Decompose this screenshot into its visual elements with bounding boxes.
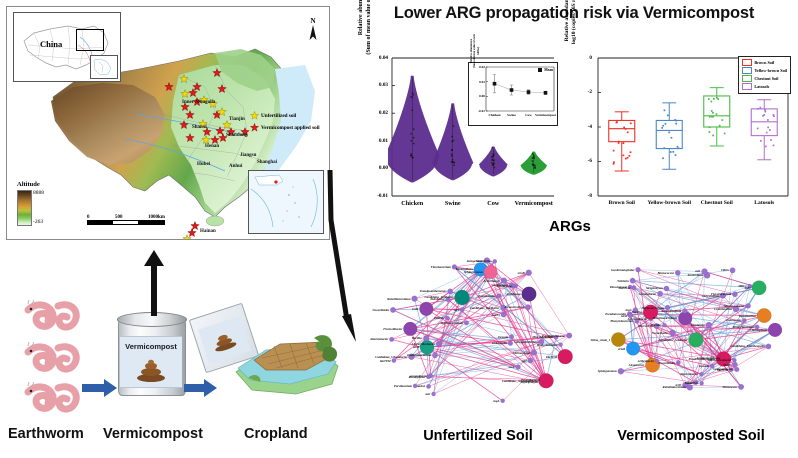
network-node-label: Flavisolibacter <box>383 327 402 331</box>
network-node-label: Candidatus_Solibacter <box>659 338 688 342</box>
boxplot-legend: Brown SoilYellow-brown SoilChestnut Soil… <box>738 56 791 94</box>
network-node-label: Paracoccus <box>723 385 738 389</box>
inset-xtick-vermicompost: Vermicompost <box>534 113 558 117</box>
network-node-label: Chitinophaga <box>750 328 768 332</box>
map-place-shandong: Shandong <box>226 133 247 138</box>
flow-arrow-vermicompost-to-cropland <box>184 378 218 398</box>
flow-label-cropland: Cropland <box>244 426 308 442</box>
network-node-label: Candidatus_Entotheonella <box>731 344 765 348</box>
network-node-label: blaPC <box>724 363 732 367</box>
network-node-label: Streptomyces <box>491 283 508 287</box>
network-node-label: Arthrobacter <box>483 279 500 283</box>
map-place-shanxi: Shanxi <box>192 125 207 130</box>
network-node-label: Janthinobacterium <box>407 353 431 357</box>
network-node-label: Candidatus_Koribacter <box>470 306 500 310</box>
network-node-label: Devosia <box>498 335 508 339</box>
boxplot-ytick-3: -6 <box>566 158 592 164</box>
network-node-label: Rubellimicrobium <box>387 297 410 301</box>
network-node-label: ermB <box>618 347 625 351</box>
network-node-label: Micavibrio <box>685 381 699 385</box>
network-node-label: Aeromicrobium <box>661 309 681 313</box>
boxplot-legend-swatch-3 <box>742 83 752 90</box>
network-unfertilized-soil: metagenomeblaTEMPedobacterChitinophagaaa… <box>368 238 588 428</box>
network-node-label: Acidibacter <box>506 292 521 296</box>
args-section-label: ARGs <box>500 218 640 235</box>
network-node-label: Nocardioides <box>652 331 669 335</box>
network-node-label: tetM <box>413 345 419 349</box>
network-node-label: Planctomycet <box>610 285 627 289</box>
violin-ytick-2: 0.02 <box>362 110 388 116</box>
boxplot-xtick-latosols: Latosols <box>734 200 794 206</box>
network-node-label: Sphingomonas <box>598 369 617 373</box>
inset-ytick-2: 0.00 <box>471 94 485 98</box>
network-node-label: Pseudoxanthomonas <box>420 289 447 293</box>
network-node-label: Tumebacillus <box>739 314 756 318</box>
network-node-label: Sphingomonas <box>464 270 483 274</box>
violin-ylab-line2: (Sum of mean value of each ARGs) <box>366 0 372 55</box>
network-node-label: Streptomyces <box>646 286 663 290</box>
boxplot-legend-label-0: Brown Soil <box>754 60 774 65</box>
network-node-label: tetM <box>621 314 627 318</box>
network-node-label: blaTEM <box>717 368 728 372</box>
network-node-label: Parvibaculum <box>394 384 412 388</box>
network-node-label: Arthrobacter <box>638 359 655 363</box>
network-node-label: Dokdonella <box>492 341 507 345</box>
soil-boxplot: Relative abundance of ARGs log10 (copies… <box>566 52 794 224</box>
network-node-label: Paenibacillus <box>478 294 495 298</box>
inset-ytick-1: 0.01 <box>471 80 485 84</box>
violin-ytick-1: 0.03 <box>362 82 388 88</box>
inset-ytick-0: 0.02 <box>471 65 485 69</box>
map-place-anhui: Anhui <box>229 164 242 169</box>
network-vermicomposted-title: Vermicomposted Soil <box>588 428 794 444</box>
network-node-label: aadA1 <box>417 384 425 388</box>
network-node-label: Nocardioides <box>372 308 389 312</box>
violin-inset-mean-plot: Relative abundance (Sum of mean value of… <box>468 62 558 126</box>
network-node-label: Acinetobacter <box>639 292 657 296</box>
network-node-label: Alcanivorax <box>629 363 645 367</box>
network-node-label: Alterniobacter <box>680 372 698 376</box>
boxplot-ytick-1: -2 <box>566 89 592 95</box>
flow-label-vermicompost: Vermicompost <box>103 426 203 442</box>
network-node-label: Candidatus_Solibacter <box>425 295 454 299</box>
map-place-henan: Henan <box>205 144 219 149</box>
boxplot-legend-label-1: Yellow-brown Soil <box>754 68 787 73</box>
network-node-label: Hyphomicrobium <box>441 321 464 325</box>
network-node-label: Candidatus_Udaeobacter <box>375 355 407 359</box>
network-node-label: Chitinophaga <box>513 351 531 355</box>
boxplot-legend-row-3: Latosols <box>742 83 787 90</box>
boxplot-legend-label-2: Chestnut Soil <box>754 76 778 81</box>
network-node-label: Deino_strain_1 <box>591 338 611 342</box>
network-node-label: Devosia <box>699 364 709 368</box>
network-node-label: blaTEM <box>380 359 391 363</box>
boxplot-legend-swatch-1 <box>742 67 752 74</box>
network-node-label: Wohleria <box>617 279 629 283</box>
boxplot-ytick-0: 0 <box>566 55 592 61</box>
vermicompost-can-label: Vermicompost <box>118 342 184 351</box>
inset-legend-marker <box>538 68 542 72</box>
violin-ylab-line1: Relative abundance <box>358 0 364 35</box>
network-node-label: Flavobacterium <box>431 265 451 269</box>
violin-ytick-5: -0.01 <box>362 193 388 199</box>
vermicompost-can: Vermicompost <box>118 310 184 398</box>
network-vermicomposted-canvas <box>588 238 794 428</box>
network-node-label: tnpA <box>493 399 499 403</box>
network-node-label: Aeromicrobium <box>504 305 524 309</box>
network-node-label: ereA <box>509 365 515 369</box>
violin-xtick-vermicompost: Vermicompost <box>506 200 562 207</box>
network-vermicomposted-soil: PseudonocardiaLysobacterStreptomycestetW… <box>588 238 794 428</box>
network-node-label: Achromobacter <box>628 317 648 321</box>
network-node-label: aadE5 <box>492 313 500 317</box>
network-node-label: sul1 <box>425 392 430 396</box>
boxplot-legend-row-1: Yellow-brown Soil <box>742 67 787 74</box>
violin-ytick-0: 0.04 <box>362 55 388 61</box>
map-sampling-markers <box>7 7 329 239</box>
network-node-label: sul2 <box>521 359 526 363</box>
network-node-label: Vermiphilus <box>476 259 491 263</box>
map-place-jiangsu: Jiangsu <box>240 153 256 158</box>
map-place-shanghai: Shanghai <box>257 160 277 165</box>
map-place-inner-mongolia: Inner Mongolia <box>182 100 215 105</box>
network-node-label: Candidatus_Nitrososphaera <box>502 379 538 383</box>
flow-arrow-earthworm-to-vermicompost <box>82 378 118 398</box>
network-node-label: PRRM2 <box>434 316 444 320</box>
inset-legend-label: Mean <box>544 68 553 72</box>
boxplot-legend-row-0: Brown Soil <box>742 59 787 66</box>
network-node-label: Vibrio <box>721 268 729 272</box>
boxplot-legend-row-2: Chestnut Soil <box>742 75 787 82</box>
violin-ytick-3: 0.01 <box>362 138 388 144</box>
compost-icon <box>135 358 167 382</box>
boxplot-ylab-line2: log10 (copies/16S rRNA copies) <box>571 0 577 44</box>
network-node-label: Dinoroseobacter <box>723 304 744 308</box>
network-node-label: Massiliomicrobium <box>653 316 678 320</box>
network-unfertilized-title: Unfertilized Soil <box>368 428 588 444</box>
network-node-label: Sphingobacterium <box>514 340 538 344</box>
network-node-label: Rubellimicrobium <box>663 385 686 389</box>
network-node-label: Bacillus <box>632 310 643 314</box>
earthworm-icon <box>22 294 92 336</box>
network-node-label: Rhodoplanes <box>409 375 426 379</box>
network-node-label: Nocardioides <box>658 361 675 365</box>
flow-label-earthworm: Earthworm <box>8 426 84 442</box>
network-node-label: MRC1 <box>738 284 746 288</box>
network-node-label: blaTEM <box>546 355 557 359</box>
boxplot-legend-label-3: Latosols <box>754 84 769 89</box>
inset-legend: Mean <box>538 68 553 72</box>
boxplot-ylab-line1: Relative abundance of ARGs <box>564 0 570 41</box>
boxplot-legend-swatch-0 <box>742 59 752 66</box>
arrow-up-to-map <box>142 250 166 316</box>
network-node-label: Pseudarthrobacter <box>542 334 566 338</box>
network-node-label: Geodermatophilus <box>611 268 635 272</box>
map-place-hubei: Hubei <box>197 162 210 167</box>
network-node-label: sul1 <box>695 269 700 273</box>
boxplot-ytick-4: -8 <box>566 193 592 199</box>
network-node-label: Chryseolinea <box>702 294 719 298</box>
network-node-label: sul3 <box>453 308 458 312</box>
network-node-label: Alterniobacter <box>370 337 388 341</box>
map-place-tianjin: Tianjin <box>229 117 245 122</box>
network-node-label: Lysobacter <box>691 323 705 327</box>
boxplot-legend-swatch-2 <box>742 75 752 82</box>
network-node-label: intI1 <box>412 307 418 311</box>
network-node-label: ermB <box>518 271 525 275</box>
network-node-label: Pseudoxanthomonas <box>688 357 715 361</box>
network-node-label: Blastococcus <box>657 271 674 275</box>
network-node-label: Microvirga <box>638 324 652 328</box>
network-node-label: Bacillus <box>412 336 423 340</box>
network-node-label: Bradyrhizobium <box>537 343 558 347</box>
network-node-label: Luteimonas <box>726 318 741 322</box>
boxplot-ytick-2: -4 <box>566 124 592 130</box>
network-node-label: Anaerolinea <box>687 273 703 277</box>
map-place-hainan: Hainan <box>200 229 216 234</box>
earthworm-icon <box>22 336 92 378</box>
violin-plot: Relative abundance (Sum of mean value of… <box>362 52 560 224</box>
violin-ytick-4: 0.00 <box>362 165 388 171</box>
china-sampling-map: China Altitude 8888 -263 <box>6 6 330 240</box>
